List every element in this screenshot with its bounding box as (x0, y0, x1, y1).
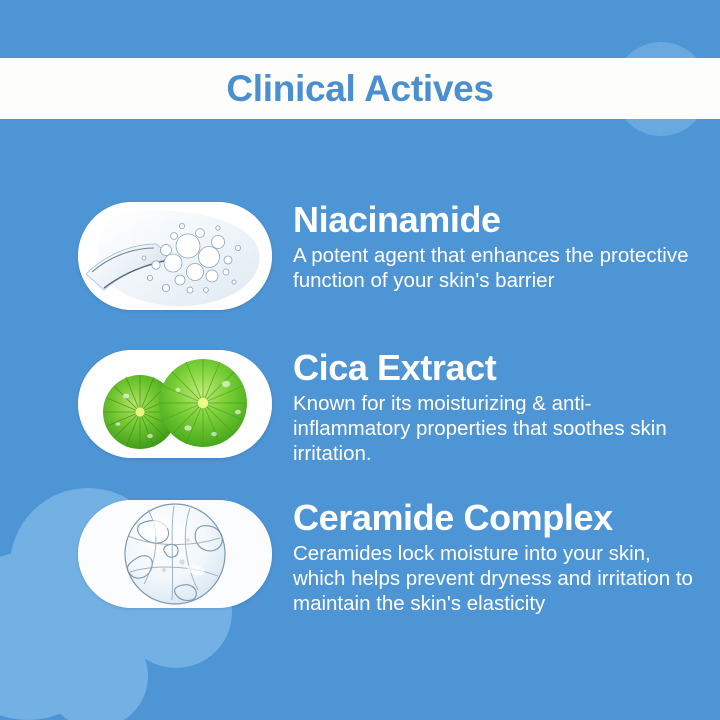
ingredient-description: A potent agent that enhances the protect… (293, 243, 693, 293)
title-banner: Clinical Actives (0, 58, 720, 119)
ingredient-title: Cica Extract (293, 350, 704, 387)
ingredient-row: Niacinamide A potent agent that enhances… (0, 202, 720, 310)
water-gel-sphere-image (78, 500, 272, 608)
ingredient-copy: Ceramide Complex Ceramides lock moisture… (293, 500, 720, 616)
ingredient-title: Niacinamide (293, 202, 704, 239)
serum-dropper-bubbles-image (78, 202, 272, 310)
ingredient-description: Ceramides lock moisture into your skin, … (293, 541, 703, 616)
ingredient-description: Known for its moisturizing & anti-inflam… (293, 391, 693, 466)
page-title: Clinical Actives (226, 70, 493, 107)
centella-leaves-image (78, 350, 272, 458)
ingredient-copy: Cica Extract Known for its moisturizing … (293, 350, 720, 466)
ingredient-title: Ceramide Complex (293, 500, 704, 537)
ingredient-row: Cica Extract Known for its moisturizing … (0, 350, 720, 466)
clinical-actives-poster: Clinical Actives (0, 0, 720, 720)
ingredient-copy: Niacinamide A potent agent that enhances… (293, 202, 720, 293)
ingredient-row: Ceramide Complex Ceramides lock moisture… (0, 500, 720, 616)
